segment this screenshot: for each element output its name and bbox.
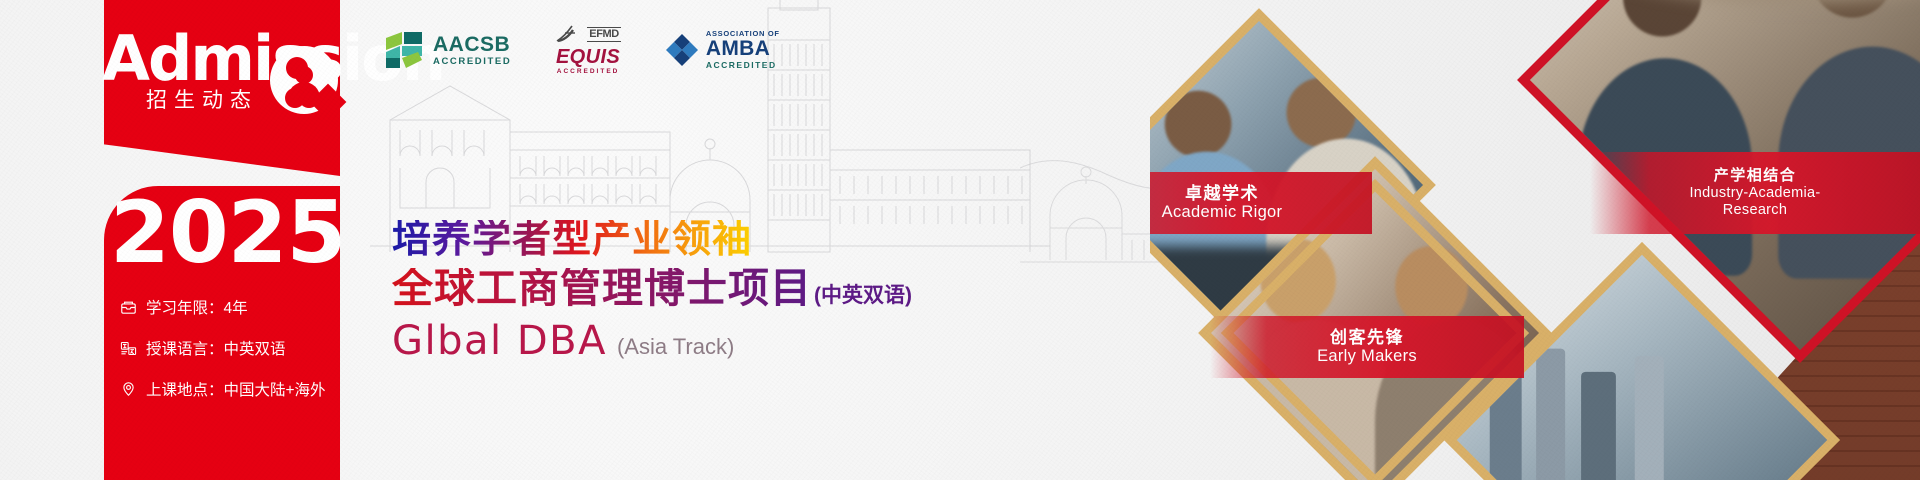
headline-program-cn: 全球工商管理博士项目 (中英双语) [392,268,912,309]
amba-status: ACCREDITED [706,61,780,70]
label-early-makers-en: Early Makers [1317,347,1417,366]
label-industry-academia-en-2: Research [1723,202,1787,219]
headline-program-en: Glbal DBA (Asia Track) [392,318,734,364]
equis-name: EQUIS [556,47,620,67]
admission-word-cn: 招生动态 [146,84,258,114]
amba-name: AMBA [706,38,780,59]
equis-logo: EFMD EQUIS ACCREDITED [555,24,621,76]
efmd-swoosh-icon [555,24,583,44]
amba-logo: ASSOCIATION OF AMBA ACCREDITED [665,30,780,70]
year-label: 2025 [110,190,336,276]
amba-prefix: ASSOCIATION OF [706,30,780,38]
program-info-list: 学习年限：4年 授课语言：中英双语 上课地点：中国大陆+海外 [120,296,340,400]
headline-program-en-sub: (Asia Track) [617,334,734,360]
calendar-icon [120,299,137,316]
admission-banner: Admission 招生动态 2025 学习年限：4年 [0,0,1920,480]
amba-diamond-icon [665,33,699,67]
admission-wordmark: Admission 招生动态 [104,24,364,134]
person-in-circle-icon [270,46,338,114]
headline-tagline: 培养学者型产业领袖 [392,220,752,259]
aacsb-logo: AACSB ACCREDITED [384,30,511,70]
headline-program-cn-sub: (中英双语) [814,279,912,309]
info-item-language: 授课语言：中英双语 [120,337,340,359]
equis-status: ACCREDITED [557,69,620,76]
label-industry-academia: 产学相结合 Industry-Academia- Research [1590,152,1920,234]
info-item-duration: 学习年限：4年 [120,296,340,318]
efmd-label: EFMD [587,27,621,42]
headline-program-cn-main: 全球工商管理博士项目 [392,268,812,309]
info-item-location: 上课地点：中国大陆+海外 [120,378,340,400]
label-academic-rigor-en: Academic Rigor [1162,203,1283,222]
label-industry-academia-cn: 产学相结合 [1714,167,1797,184]
label-early-makers: 创客先锋 Early Makers [1210,316,1524,378]
aacsb-status: ACCREDITED [433,57,511,67]
info-item-location-text: 上课地点：中国大陆+海外 [146,378,326,400]
label-academic-rigor: 卓越学术 Academic Rigor [1150,172,1372,234]
language-icon [120,340,137,357]
info-item-duration-text: 学习年限：4年 [146,296,248,318]
label-early-makers-cn: 创客先锋 [1330,328,1404,348]
accreditation-logos: AACSB ACCREDITED EFMD EQUIS ACCREDITED [384,24,780,76]
aacsb-name: AACSB [433,34,511,55]
aacsb-pinwheel-icon [384,30,424,70]
label-industry-academia-en-1: Industry-Academia- [1689,185,1820,202]
location-pin-icon [120,381,137,398]
label-academic-rigor-cn: 卓越学术 [1185,184,1259,204]
headline-program-en-main: Glbal DBA [392,318,607,364]
info-item-language-text: 授课语言：中英双语 [146,337,286,359]
photo-collage: 卓越学术 Academic Rigor 产学相结合 Industry-Acade… [1150,0,1920,480]
